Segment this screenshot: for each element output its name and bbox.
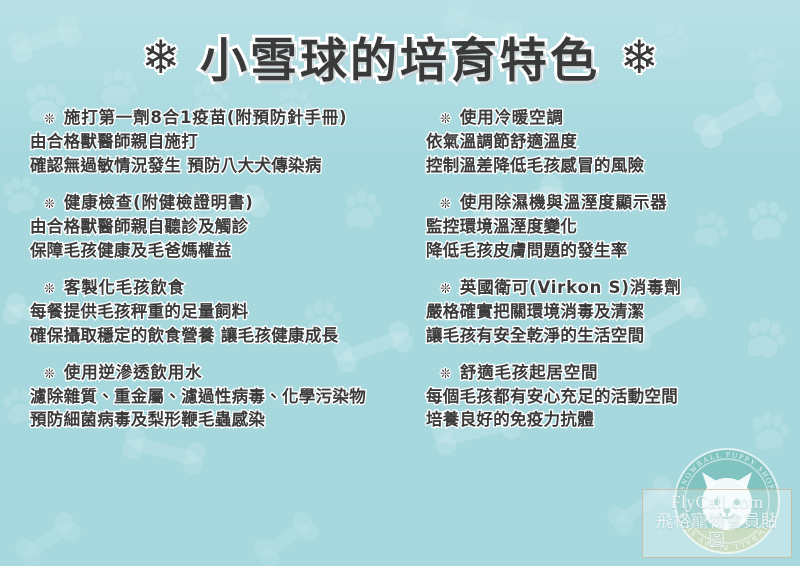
feature-line: 降低毛孩皮膚問題的發生率 [426,239,800,263]
feature-title: 施打第一劑8合1疫苗(附預防針手冊) [64,104,347,128]
feature-line: 控制溫差降低毛孩感冒的風險 [426,154,800,178]
feature-item: ❊ 英國衛可(Virkon S)消毒劑 嚴格確實把關環境消毒及清潔 讓毛孩有安全… [426,274,800,348]
bone-icon [9,507,87,566]
poster-canvas: ❄ 小雪球的培育特色 ❄ ❊ 施打第一劑8合1疫苗(附預防針手冊) 由合格獸醫師… [0,0,800,566]
feature-title: 使用除濕機與溫溼度顯示器 [460,189,668,213]
feature-line: 保障毛孩健康及毛爸媽權益 [30,239,404,263]
snowflake-icon: ❄ [141,34,180,80]
feature-heading: ❊ 健康檢查(附健檢證明書) [30,189,404,213]
watermark-site: FlyCall.com [649,493,785,513]
snowflake-bullet-icon: ❊ [44,197,55,210]
snowflake-bullet-icon: ❊ [440,282,451,295]
feature-title: 舒適毛孩起居空間 [460,359,598,383]
bone-icon [247,507,325,566]
feature-line: 讓毛孩有安全乾淨的生活空間 [426,324,800,348]
snowflake-bullet-icon: ❊ [44,112,55,125]
feature-title: 使用冷暖空調 [460,104,564,128]
feature-line: 培養良好的免疫力抗體 [426,408,800,432]
feature-columns: ❊ 施打第一劑8合1疫苗(附預防針手冊) 由合格獸醫師親自施打 確認無過敏情況發… [0,104,800,504]
feature-item: ❊ 健康檢查(附健檢證明書) 由合格獸醫師親自聽診及觸診 保障毛孩健康及毛爸媽權… [30,189,404,263]
feature-body: 每個毛孩都有安心充足的活動空間 培養良好的免疫力抗體 [426,385,800,433]
watermark: FlyCall.com 飛格寵物會員貼圖 [642,489,792,558]
feature-line: 每餐提供毛孩秤重的足量飼料 [30,300,404,324]
feature-line: 預防細菌病毒及梨形鞭毛蟲感染 [30,408,404,432]
feature-item: ❊ 客製化毛孩飲食 每餐提供毛孩秤重的足量飼料 確保攝取穩定的飲食營養 讓毛孩健… [30,274,404,348]
feature-body: 嚴格確實把關環境消毒及清潔 讓毛孩有安全乾淨的生活空間 [426,300,800,348]
snowflake-bullet-icon: ❊ [440,197,451,210]
feature-item: ❊ 使用逆滲透飲用水 濾除雜質、重金屬、濾過性病毒、化學污染物 預防細菌病毒及梨… [30,359,404,433]
feature-item: ❊ 使用冷暖空調 依氣溫調節舒適溫度 控制溫差降低毛孩感冒的風險 [426,104,800,178]
feature-item: ❊ 使用除濕機與溫溼度顯示器 監控環境溫溼度變化 降低毛孩皮膚問題的發生率 [426,189,800,263]
feature-heading: ❊ 舒適毛孩起居空間 [426,359,800,383]
feature-line: 每個毛孩都有安心充足的活動空間 [426,385,800,409]
feature-body: 每餐提供毛孩秤重的足量飼料 確保攝取穩定的飲食營養 讓毛孩健康成長 [30,300,404,348]
feature-heading: ❊ 客製化毛孩飲食 [30,274,404,298]
feature-line: 確保攝取穩定的飲食營養 讓毛孩健康成長 [30,324,404,348]
feature-title: 客製化毛孩飲食 [64,274,185,298]
feature-title: 健康檢查(附健檢證明書) [64,189,254,213]
feature-title: 使用逆滲透飲用水 [64,359,202,383]
feature-body: 由合格獸醫師親自施打 確認無過敏情況發生 預防八大犬傳染病 [30,130,404,178]
feature-title: 英國衛可(Virkon S)消毒劑 [460,274,682,298]
snowflake-bullet-icon: ❊ [440,112,451,125]
feature-body: 依氣溫調節舒適溫度 控制溫差降低毛孩感冒的風險 [426,130,800,178]
poster-title: ❄ 小雪球的培育特色 ❄ [0,22,800,91]
left-feature-column: ❊ 施打第一劑8合1疫苗(附預防針手冊) 由合格獸醫師親自施打 確認無過敏情況發… [0,104,404,504]
snowflake-icon: ❄ [620,34,659,80]
feature-line: 由合格獸醫師親自施打 [30,130,404,154]
feature-item: ❊ 舒適毛孩起居空間 每個毛孩都有安心充足的活動空間 培養良好的免疫力抗體 [426,359,800,433]
feature-heading: ❊ 使用除濕機與溫溼度顯示器 [426,189,800,213]
feature-heading: ❊ 施打第一劑8合1疫苗(附預防針手冊) [30,104,404,128]
feature-body: 濾除雜質、重金屬、濾過性病毒、化學污染物 預防細菌病毒及梨形鞭毛蟲感染 [30,385,404,433]
feature-line: 由合格獸醫師親自聽診及觸診 [30,215,404,239]
feature-line: 依氣溫調節舒適溫度 [426,130,800,154]
feature-line: 監控環境溫溼度變化 [426,215,800,239]
feature-line: 確認無過敏情況發生 預防八大犬傳染病 [30,154,404,178]
feature-heading: ❊ 英國衛可(Virkon S)消毒劑 [426,274,800,298]
snowflake-bullet-icon: ❊ [44,367,55,380]
feature-body: 監控環境溫溼度變化 降低毛孩皮膚問題的發生率 [426,215,800,263]
feature-body: 由合格獸醫師親自聽診及觸診 保障毛孩健康及毛爸媽權益 [30,215,404,263]
feature-line: 嚴格確實把關環境消毒及清潔 [426,300,800,324]
snowflake-bullet-icon: ❊ [44,282,55,295]
right-feature-column: ❊ 使用冷暖空調 依氣溫調節舒適溫度 控制溫差降低毛孩感冒的風險 ❊ 使用除濕機… [404,104,800,504]
feature-line: 濾除雜質、重金屬、濾過性病毒、化學污染物 [30,385,404,409]
feature-item: ❊ 施打第一劑8合1疫苗(附預防針手冊) 由合格獸醫師親自施打 確認無過敏情況發… [30,104,404,178]
snowflake-bullet-icon: ❊ [440,367,451,380]
feature-heading: ❊ 使用逆滲透飲用水 [30,359,404,383]
watermark-label: 飛格寵物會員貼圖 [649,513,785,552]
page-title: 小雪球的培育特色 [200,22,600,91]
feature-heading: ❊ 使用冷暖空調 [426,104,800,128]
